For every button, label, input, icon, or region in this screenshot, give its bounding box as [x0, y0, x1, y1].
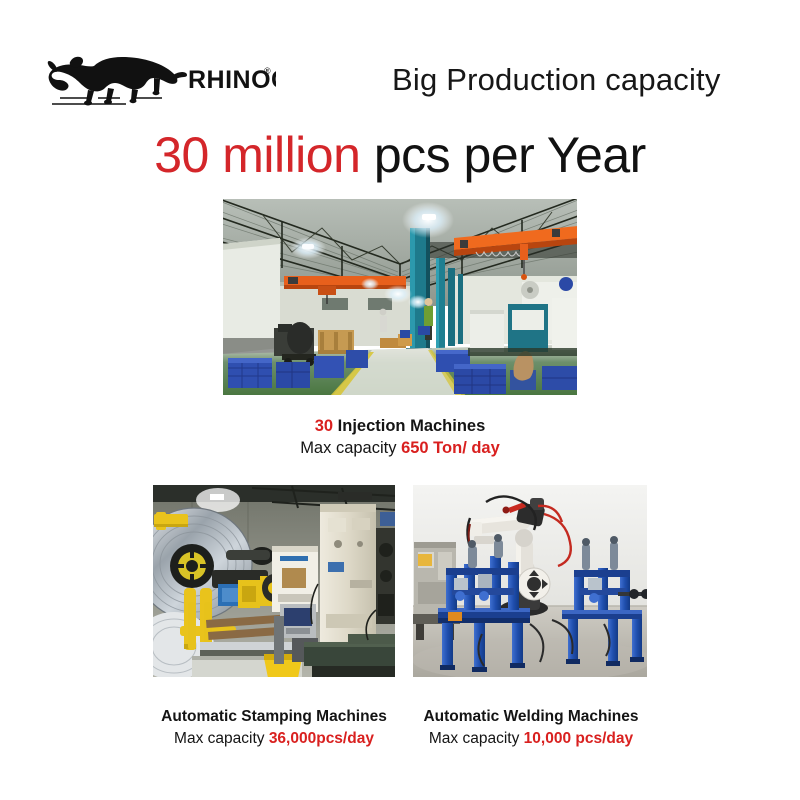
stamping-capacity-value: 36,000pcs/day	[269, 730, 374, 747]
injection-capacity-label: Max capacity	[300, 439, 401, 457]
factory-workshop-illustration	[222, 198, 578, 396]
welding-machine-photo	[412, 484, 648, 678]
rhinoceros-logo-icon: RHINOCEROS ®	[36, 54, 276, 108]
brand-wordmark: RHINOCEROS	[188, 66, 276, 94]
stamping-caption: Automatic Stamping Machines Max capacity…	[128, 706, 420, 750]
headline: 30 million pcs per Year	[0, 126, 800, 184]
injection-caption-line2: Max capacity 650 Ton/ day	[200, 437, 600, 459]
injection-capacity-value: 650 Ton/ day	[401, 439, 500, 457]
brand-logo: RHINOCEROS ®	[36, 54, 276, 108]
stamping-machine-illustration	[152, 484, 396, 678]
injection-caption-line1: 30 Injection Machines	[200, 415, 600, 437]
welding-machine-illustration	[412, 484, 648, 678]
stamping-capacity-label: Max capacity	[174, 730, 269, 747]
injection-title: Injection Machines	[333, 417, 485, 435]
headline-rest: pcs per Year	[360, 127, 645, 183]
page-title: Big Production capacity	[392, 62, 782, 98]
injection-caption: 30 Injection Machines Max capacity 650 T…	[200, 415, 600, 459]
welding-caption: Automatic Welding Machines Max capacity …	[390, 706, 672, 750]
welding-caption-line1: Automatic Welding Machines	[390, 706, 672, 728]
stamping-caption-line2: Max capacity 36,000pcs/day	[128, 728, 420, 750]
factory-workshop-photo	[222, 198, 578, 396]
welding-capacity-value: 10,000 pcs/day	[524, 730, 633, 747]
injection-count: 30	[315, 417, 333, 435]
stamping-caption-line1: Automatic Stamping Machines	[128, 706, 420, 728]
brand-trademark-icon: ®	[264, 66, 271, 76]
stamping-machine-photo	[152, 484, 396, 678]
production-capacity-slide: RHINOCEROS ® Big Production capacity 30 …	[0, 0, 800, 800]
welding-caption-line2: Max capacity 10,000 pcs/day	[390, 728, 672, 750]
welding-capacity-label: Max capacity	[429, 730, 524, 747]
headline-highlight: 30 million	[154, 127, 360, 183]
